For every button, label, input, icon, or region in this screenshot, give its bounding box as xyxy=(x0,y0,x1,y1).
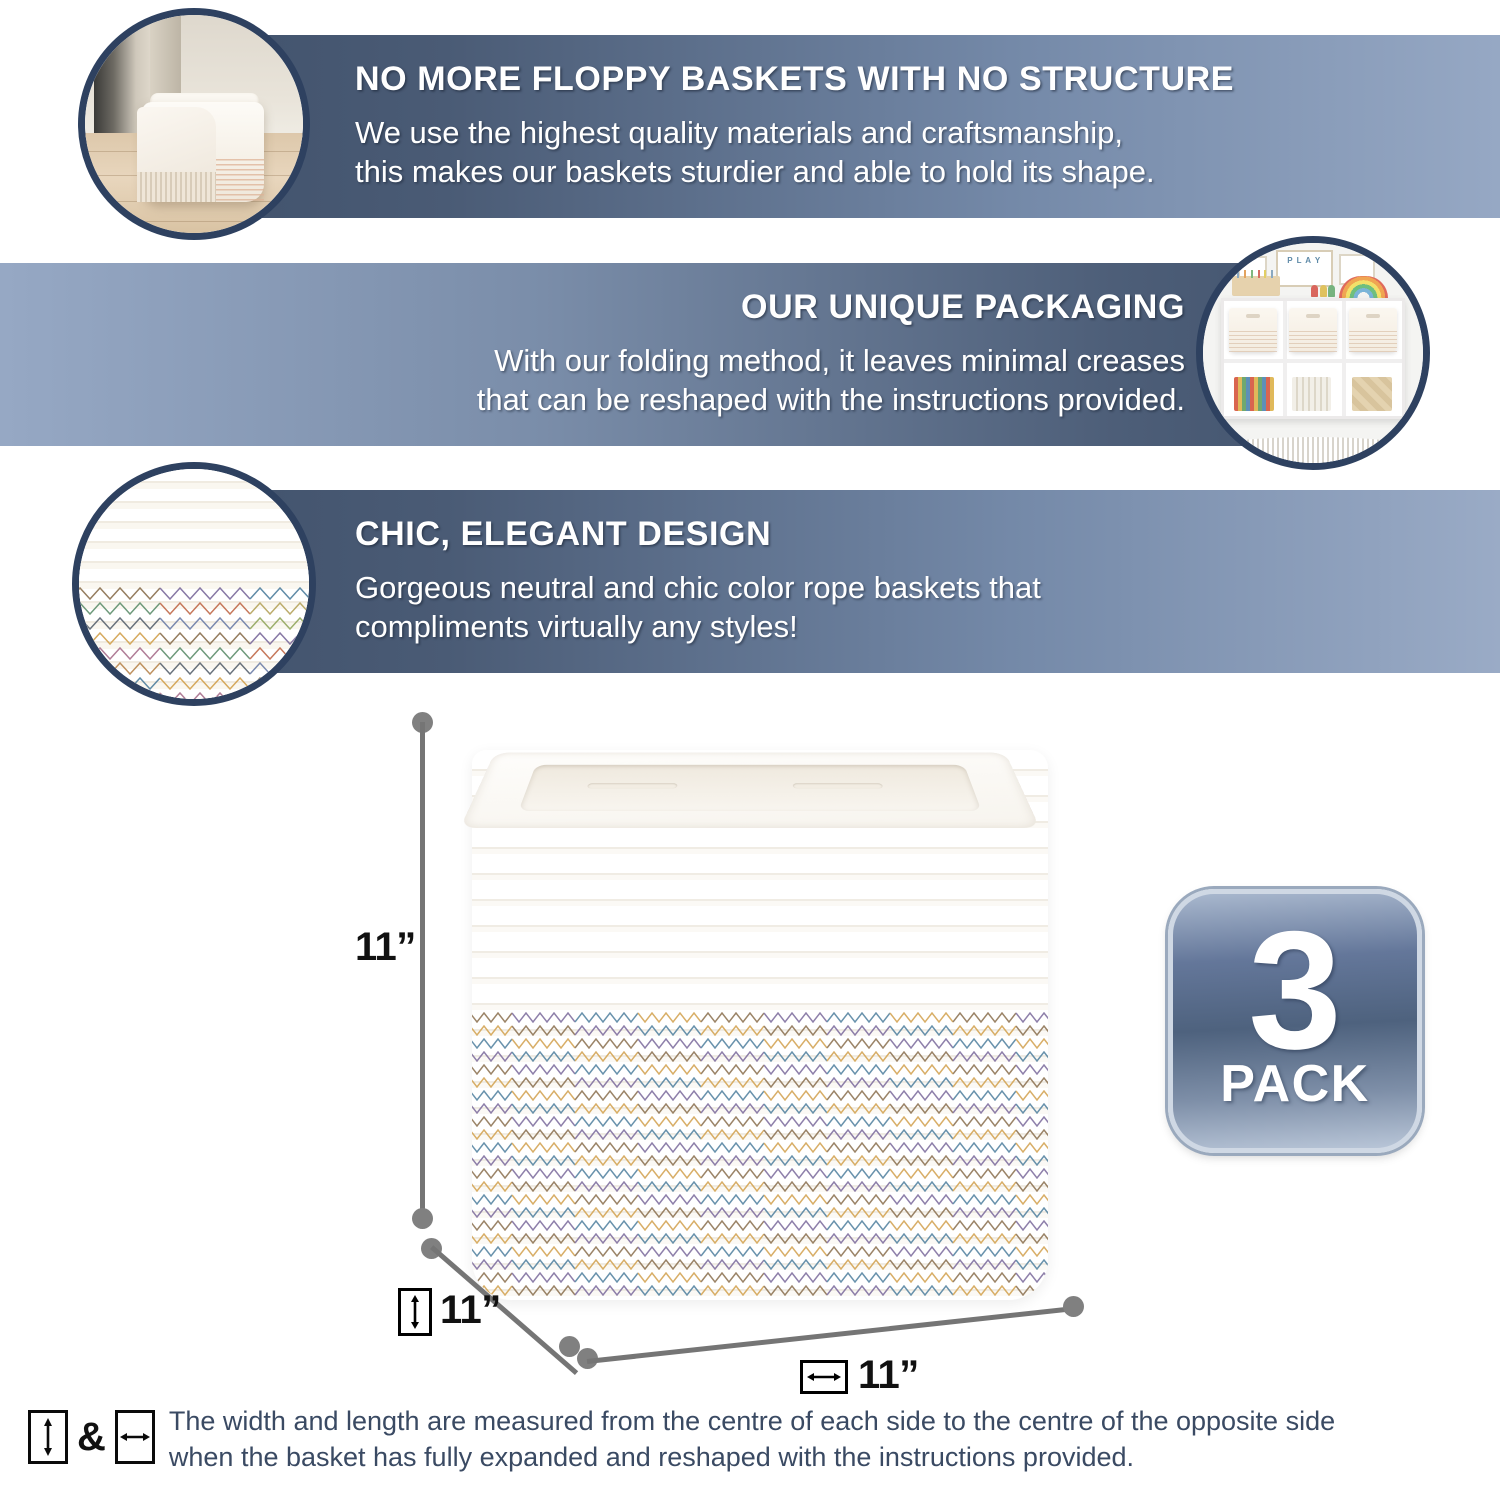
rope-texture-closeup-photo xyxy=(72,462,316,706)
width-icon-box xyxy=(800,1360,848,1394)
vertical-measure-icon-box xyxy=(28,1410,68,1464)
infographic-canvas: NO MORE FLOPPY BASKETS WITH NO STRUCTURE… xyxy=(0,0,1500,1485)
dimension-line-width xyxy=(587,1306,1078,1364)
disclaimer-text: The width and length are measured from t… xyxy=(169,1404,1335,1476)
dimension-dot-height-bottom xyxy=(412,1208,433,1229)
pack-count-number: 3 xyxy=(1248,922,1341,1060)
banner-heading: NO MORE FLOPPY BASKETS WITH NO STRUCTURE xyxy=(355,61,1470,98)
rope-storage-basket xyxy=(450,700,1070,1310)
pack-count-label: PACK xyxy=(1220,1054,1369,1114)
horizontal-arrow-icon xyxy=(120,1430,150,1444)
feature-banner-structure: NO MORE FLOPPY BASKETS WITH NO STRUCTURE… xyxy=(215,35,1500,218)
dimension-line-height xyxy=(420,722,425,1216)
horizontal-arrow-icon xyxy=(807,1370,841,1384)
depth-icon-box xyxy=(398,1288,432,1336)
banner-body-line-1: With our folding method, it leaves minim… xyxy=(494,341,1185,381)
dimension-label-width: 11” xyxy=(858,1353,919,1398)
banner-body-line-1: Gorgeous neutral and chic color rope bas… xyxy=(355,568,1470,608)
cube-shelf-photo: P L A Y xyxy=(1196,236,1430,470)
dimension-label-depth: 11” xyxy=(440,1288,501,1333)
vertical-arrow-icon xyxy=(408,1295,422,1329)
horizontal-measure-icon-box xyxy=(115,1410,155,1464)
feature-banner-packaging: OUR UNIQUE PACKAGING With our folding me… xyxy=(0,263,1360,446)
dimension-dot-width-right xyxy=(1063,1296,1084,1317)
banner-body-line-2: compliments virtually any styles! xyxy=(355,607,1470,647)
vertical-arrow-icon xyxy=(41,1418,55,1456)
banner-body-line-1: We use the highest quality materials and… xyxy=(355,113,1470,153)
disclaimer-line-2: when the basket has fully expanded and r… xyxy=(169,1440,1335,1476)
banner-body-line-2: that can be reshaped with the instructio… xyxy=(477,380,1185,420)
banner-body-line-2: this makes our baskets sturdier and able… xyxy=(355,152,1470,192)
dimension-label-height: 11” xyxy=(355,925,416,970)
disclaimer-icons: & xyxy=(28,1404,155,1464)
pack-count-badge: 3 PACK xyxy=(1168,889,1422,1153)
ampersand: & xyxy=(77,1417,106,1457)
feature-banner-design: CHIC, ELEGANT DESIGN Gorgeous neutral an… xyxy=(215,490,1500,673)
measurement-disclaimer: & The width and length are measured from… xyxy=(28,1404,1478,1476)
disclaimer-line-1: The width and length are measured from t… xyxy=(169,1404,1335,1440)
basket-with-throw-photo xyxy=(78,8,310,240)
banner-heading: CHIC, ELEGANT DESIGN xyxy=(355,516,1470,553)
banner-heading: OUR UNIQUE PACKAGING xyxy=(741,289,1185,326)
